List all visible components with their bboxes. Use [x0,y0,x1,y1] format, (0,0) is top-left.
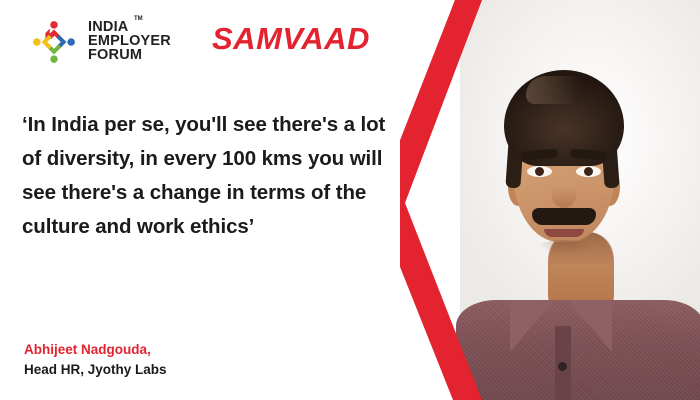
trademark-symbol: TM [134,17,143,23]
quote-body: ‘In India per se, you'll see there's a l… [22,108,394,244]
attribution: Abhijeet Nadgouda, Head HR, Jyothy Labs [24,340,167,380]
samvaad-quote-card: INDIA EMPLOYER FORUM TM SAMVAAD ‘In Indi… [0,0,700,400]
brand-wordmark: INDIA EMPLOYER FORUM TM [88,21,171,62]
wordmark-line-3: FORUM [88,49,171,63]
page-title: SAMVAAD [212,21,370,57]
speaker-role: Head HR, Jyothy Labs [24,360,167,380]
chevron-accent-shape [400,0,700,400]
brand-logo[interactable]: INDIA EMPLOYER FORUM TM [28,16,171,68]
speaker-name: Abhijeet Nadgouda, [24,340,167,360]
portrait-panel [400,0,700,400]
india-employer-forum-logo-icon [28,16,80,68]
